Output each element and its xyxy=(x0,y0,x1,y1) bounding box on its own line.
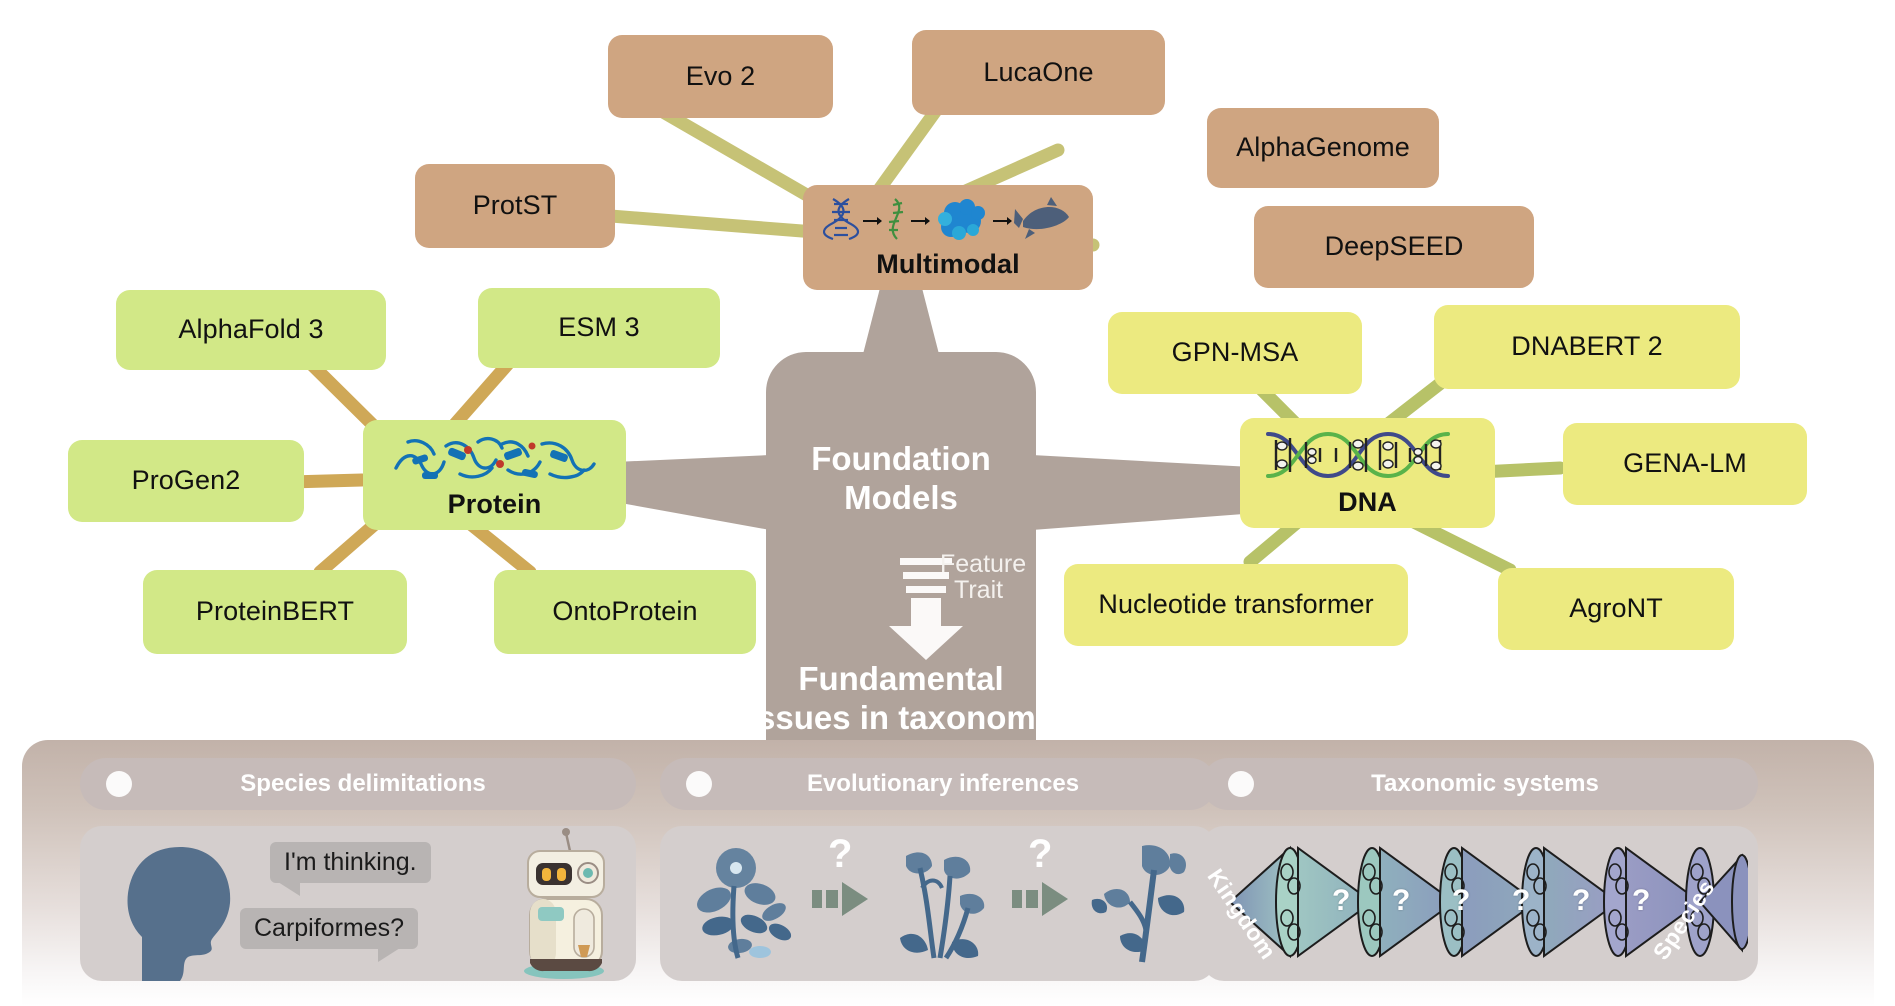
node-ontoprotein[interactable]: OntoProtein xyxy=(494,570,756,654)
node-gpn-msa[interactable]: GPN-MSA xyxy=(1108,312,1362,394)
center-title-line2: Models xyxy=(771,479,1031,518)
node-alphagenome[interactable]: AlphaGenome xyxy=(1207,108,1439,188)
bullet-dot-icon xyxy=(1228,771,1254,797)
chat-bubble-text: I'm thinking. xyxy=(284,848,417,876)
question-mark-2: ? xyxy=(1028,832,1052,877)
node-label: DeepSEED xyxy=(1325,231,1464,262)
hub-protein[interactable]: Protein xyxy=(363,420,626,530)
question-mark-6: ? xyxy=(1632,884,1650,918)
bottom-title-line1: Fundamental xyxy=(701,660,1101,699)
flower-plant-icon-2 xyxy=(888,842,998,966)
panel-evolutionary-inferences: Evolutionary inferences xyxy=(660,758,1216,981)
node-label: OntoProtein xyxy=(552,596,697,627)
panel-header-taxonomic-systems[interactable]: Taxonomic systems xyxy=(1202,758,1758,810)
dna-double-helix-icon xyxy=(1240,426,1495,484)
center-title-line1: Foundation xyxy=(771,440,1031,479)
node-evo-2[interactable]: Evo 2 xyxy=(608,35,833,118)
node-deepseed[interactable]: DeepSEED xyxy=(1254,206,1534,288)
node-label: GPN-MSA xyxy=(1172,337,1299,368)
arrow-right-icon-1 xyxy=(812,878,872,920)
robot-icon xyxy=(508,827,620,979)
hub-label: Protein xyxy=(448,489,542,520)
panel-species-delimitations: Species delimitations I'm thinking. Carp… xyxy=(80,758,636,981)
node-label: Evo 2 xyxy=(686,61,756,92)
feature-label: Feature xyxy=(940,551,1026,577)
node-label: ProtST xyxy=(473,190,558,221)
question-mark-2: ? xyxy=(1392,884,1410,918)
hub-dna[interactable]: DNA xyxy=(1240,418,1495,528)
panel-card-evolutionary-inferences: ? xyxy=(660,826,1216,981)
node-label: AgroNT xyxy=(1569,593,1663,624)
question-mark-text: ? xyxy=(1632,884,1650,917)
question-mark-1: ? xyxy=(828,832,852,877)
trait-label: Trait xyxy=(940,577,1026,603)
panel-title: Taxonomic systems xyxy=(1254,770,1716,798)
node-proteinbert[interactable]: ProteinBERT xyxy=(143,570,407,654)
node-nucleotide-transformer[interactable]: Nucleotide transformer xyxy=(1064,564,1408,646)
question-mark-text: ? xyxy=(1028,832,1052,876)
bottom-title: Fundamental issues in taxonomy xyxy=(701,660,1101,738)
node-dnabert-2[interactable]: DNABERT 2 xyxy=(1434,305,1740,389)
bottom-title-line2: issues in taxonomy xyxy=(701,699,1101,738)
question-mark-4: ? xyxy=(1512,884,1530,918)
node-label: ProGen2 xyxy=(132,465,241,496)
question-mark-text: ? xyxy=(1392,884,1410,917)
node-progen2[interactable]: ProGen2 xyxy=(68,440,304,522)
chat-bubble-question: Carpiformes? xyxy=(240,908,418,949)
question-mark-text: ? xyxy=(1332,884,1350,917)
node-esm-3[interactable]: ESM 3 xyxy=(478,288,720,368)
dna-rna-protein-fish-icon xyxy=(803,195,1093,241)
arrow-right-icon-2 xyxy=(1012,878,1072,920)
feature-trait-label: Feature Trait xyxy=(940,551,1026,604)
chat-bubble-thinking: I'm thinking. xyxy=(270,842,431,883)
node-lucaone[interactable]: LucaOne xyxy=(912,30,1165,115)
panel-card-species-delimitations: I'm thinking. Carpiformes? xyxy=(80,826,636,981)
question-mark-text: ? xyxy=(828,832,852,876)
human-head-silhouette-icon xyxy=(120,841,240,981)
node-agront[interactable]: AgroNT xyxy=(1498,568,1734,650)
hub-multimodal[interactable]: Multimodal xyxy=(803,185,1093,290)
flower-plant-icon-1 xyxy=(688,842,798,966)
node-label: Nucleotide transformer xyxy=(1098,589,1373,620)
node-label: AlphaGenome xyxy=(1236,132,1410,163)
hub-label: Multimodal xyxy=(876,249,1020,280)
panel-title: Species delimitations xyxy=(132,770,594,798)
question-mark-1: ? xyxy=(1332,884,1350,918)
node-label: GENA-LM xyxy=(1623,448,1747,479)
panel-title: Evolutionary inferences xyxy=(712,770,1174,798)
flower-plant-icon-3 xyxy=(1084,840,1196,968)
question-mark-text: ? xyxy=(1452,884,1470,917)
panel-header-evolutionary-inferences[interactable]: Evolutionary inferences xyxy=(660,758,1216,810)
question-mark-5: ? xyxy=(1572,884,1590,918)
node-label: DNABERT 2 xyxy=(1511,331,1662,362)
node-alphafold-3[interactable]: AlphaFold 3 xyxy=(116,290,386,370)
chat-bubble-text: Carpiformes? xyxy=(254,914,404,942)
link-multimodal-evo2 xyxy=(651,105,824,205)
bullet-dot-icon xyxy=(106,771,132,797)
figure-canvas: Foundation Models Feature Trait Fundamen… xyxy=(0,0,1895,1006)
hub-label: DNA xyxy=(1338,487,1397,518)
panel-header-species-delimitations[interactable]: Species delimitations xyxy=(80,758,636,810)
question-mark-text: ? xyxy=(1572,884,1590,917)
panel-taxonomic-systems: Taxonomic systems xyxy=(1202,758,1758,981)
node-label: AlphaFold 3 xyxy=(178,314,323,345)
node-label: ProteinBERT xyxy=(196,596,354,627)
bottom-panel: Species delimitations I'm thinking. Carp… xyxy=(22,740,1874,1006)
question-mark-3: ? xyxy=(1452,884,1470,918)
center-title: Foundation Models xyxy=(771,440,1031,518)
node-label: ESM 3 xyxy=(558,312,640,343)
node-label: LucaOne xyxy=(983,57,1093,88)
node-protst[interactable]: ProtST xyxy=(415,164,615,248)
question-mark-text: ? xyxy=(1512,884,1530,917)
node-gena-lm[interactable]: GENA-LM xyxy=(1563,423,1807,505)
protein-ribbon-icon xyxy=(363,428,626,490)
bullet-dot-icon xyxy=(686,771,712,797)
panel-card-taxonomic-systems: Kingdom Species ? ? ? ? ? xyxy=(1202,826,1758,981)
